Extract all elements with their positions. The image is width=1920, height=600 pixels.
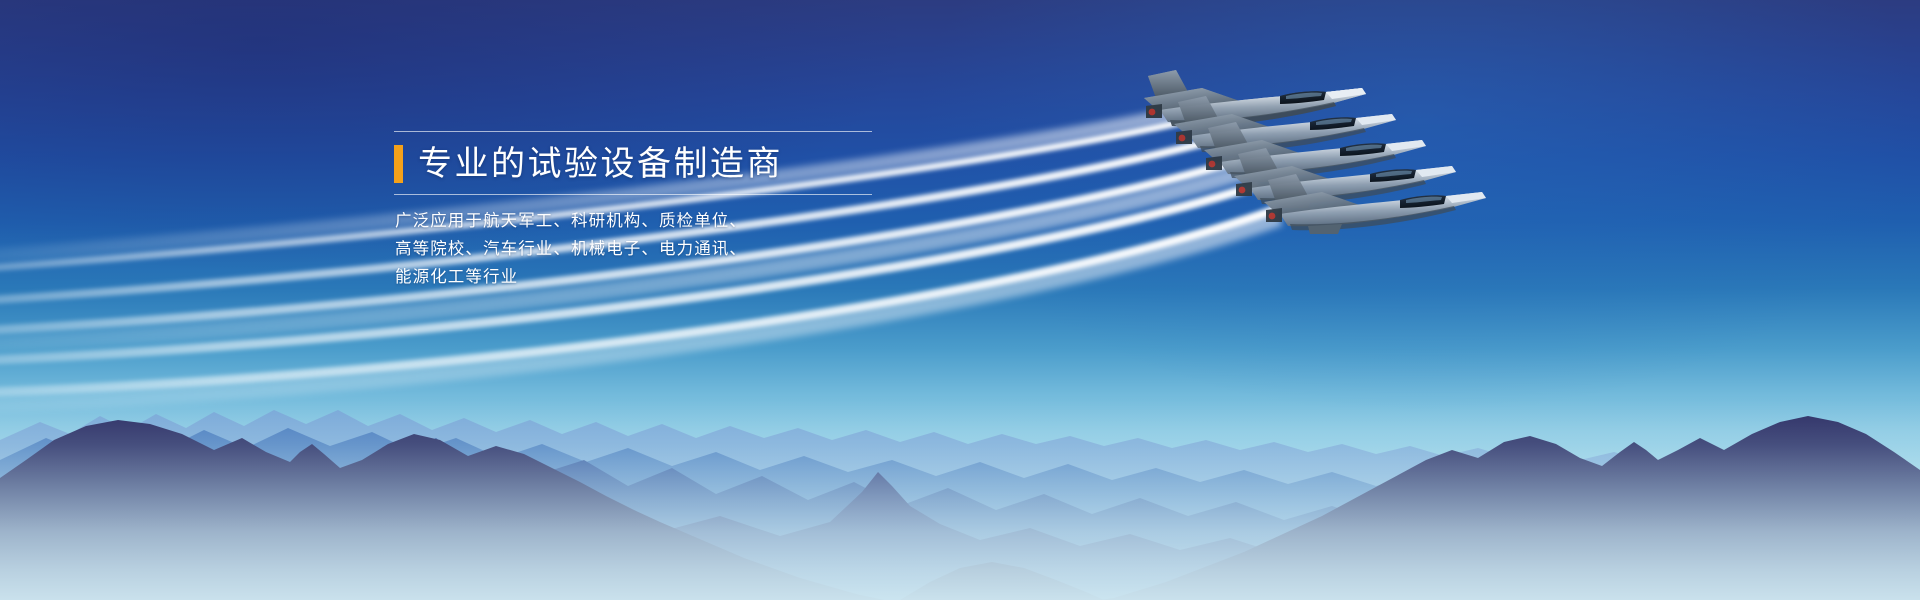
banner-copy: 专业的试验设备制造商 广泛应用于航天军工、科研机构、质检单位、 高等院校、汽车行…	[394, 131, 872, 291]
subtitle-block: 广泛应用于航天军工、科研机构、质检单位、 高等院校、汽车行业、机械电子、电力通讯…	[394, 207, 872, 291]
mountain-range-icon	[0, 310, 1920, 600]
divider-top	[394, 131, 872, 132]
hero-banner: 专业的试验设备制造商 广泛应用于航天军工、科研机构、质检单位、 高等院校、汽车行…	[0, 0, 1920, 600]
subtitle-line-2: 高等院校、汽车行业、机械电子、电力通讯、	[395, 235, 872, 263]
headline-row: 专业的试验设备制造商	[394, 143, 872, 185]
fighter-jet-icon	[1130, 48, 1530, 268]
divider-bottom	[394, 194, 872, 195]
page-title: 专业的试验设备制造商	[418, 145, 783, 183]
accent-bar	[394, 145, 403, 183]
subtitle-line-1: 广泛应用于航天军工、科研机构、质检单位、	[395, 207, 872, 235]
subtitle-line-3: 能源化工等行业	[395, 263, 872, 291]
